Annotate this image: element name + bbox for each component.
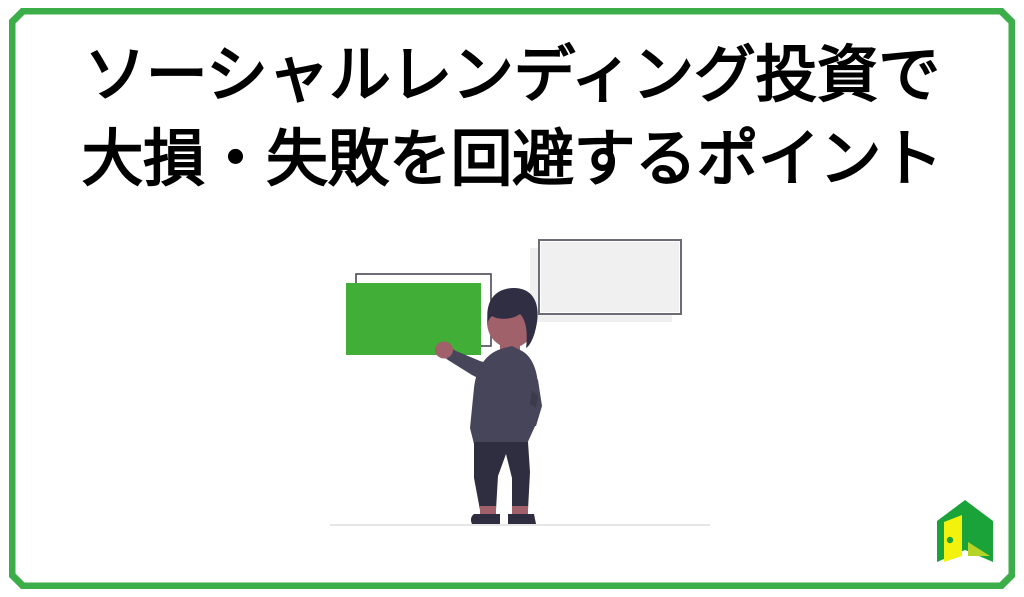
site-logo[interactable] (934, 498, 996, 566)
page-title-line-1: ソーシャルレンディング投資で (0, 33, 1024, 117)
person-shoe-right (508, 514, 536, 524)
person-pants (474, 442, 530, 510)
person-ankle-left (480, 506, 496, 515)
page-title: ソーシャルレンディング投資で 大損・失敗を回避するポイント (0, 33, 1024, 201)
hero-illustration (330, 228, 710, 538)
person-ear (488, 317, 498, 331)
page-canvas: ソーシャルレンディング投資で 大損・失敗を回避するポイント (0, 0, 1024, 597)
person-shoe-left (471, 514, 500, 524)
page-title-line-2: 大損・失敗を回避するポイント (0, 117, 1024, 201)
person-ankle-right (512, 506, 528, 515)
person-hand (435, 342, 453, 359)
light-panel-inner (541, 242, 679, 312)
green-panel-fill (346, 283, 481, 355)
logo-door-panel (944, 515, 962, 562)
logo-door-knob (947, 537, 953, 543)
